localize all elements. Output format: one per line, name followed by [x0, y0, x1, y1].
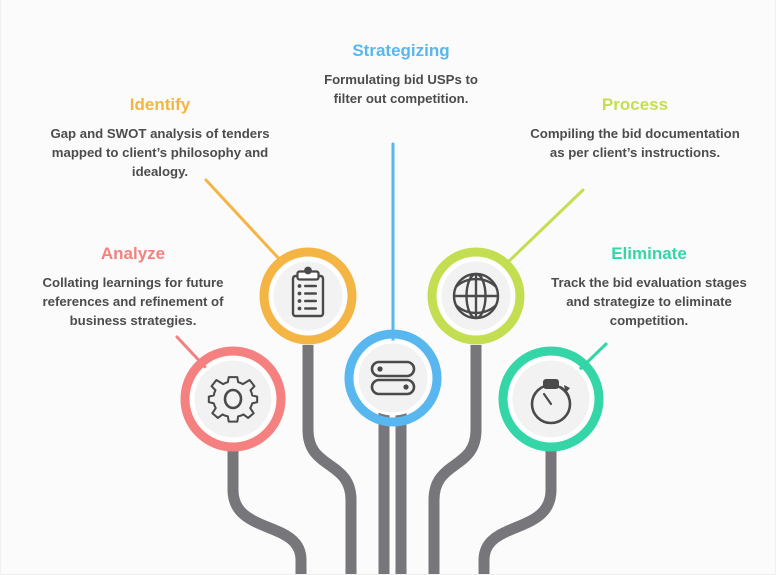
stem-outer-right	[484, 448, 551, 575]
node-identify[interactable]	[264, 252, 352, 340]
node-face-analyze	[193, 359, 273, 439]
text-block-process: Process Compiling the bid documentation …	[501, 96, 769, 162]
block-body-identify: Gap and SWOT analysis of tenders mapped …	[15, 124, 305, 181]
node-eliminate[interactable]	[503, 351, 599, 447]
block-title-analyze: Analyze	[11, 245, 255, 264]
block-title-identify: Identify	[15, 96, 305, 115]
node-face-eliminate	[511, 359, 591, 439]
node-analyze[interactable]	[185, 351, 281, 447]
text-block-identify: Identify Gap and SWOT analysis of tender…	[15, 96, 305, 181]
stem-outer-left	[233, 448, 301, 575]
block-title-eliminate: Eliminate	[523, 245, 775, 264]
text-block-strategizing: Strategizing Formulating bid USPs to fil…	[281, 42, 521, 108]
block-body-eliminate: Track the bid evaluation stages and stra…	[523, 273, 775, 330]
block-title-strategizing: Strategizing	[281, 42, 521, 61]
infographic-canvas: Identify Gap and SWOT analysis of tender…	[0, 0, 776, 575]
node-face-strategizing	[357, 342, 429, 414]
block-body-analyze: Collating learnings for future reference…	[11, 273, 255, 330]
block-title-process: Process	[501, 96, 769, 115]
node-strategizing[interactable]	[349, 334, 437, 422]
text-block-eliminate: Eliminate Track the bid evaluation stage…	[523, 245, 775, 330]
block-body-process: Compiling the bid documentation as per c…	[501, 124, 769, 162]
node-process[interactable]	[432, 252, 520, 340]
text-block-analyze: Analyze Collating learnings for future r…	[11, 245, 255, 330]
globe-icon	[454, 274, 498, 318]
block-body-strategizing: Formulating bid USPs to filter out compe…	[281, 70, 521, 108]
